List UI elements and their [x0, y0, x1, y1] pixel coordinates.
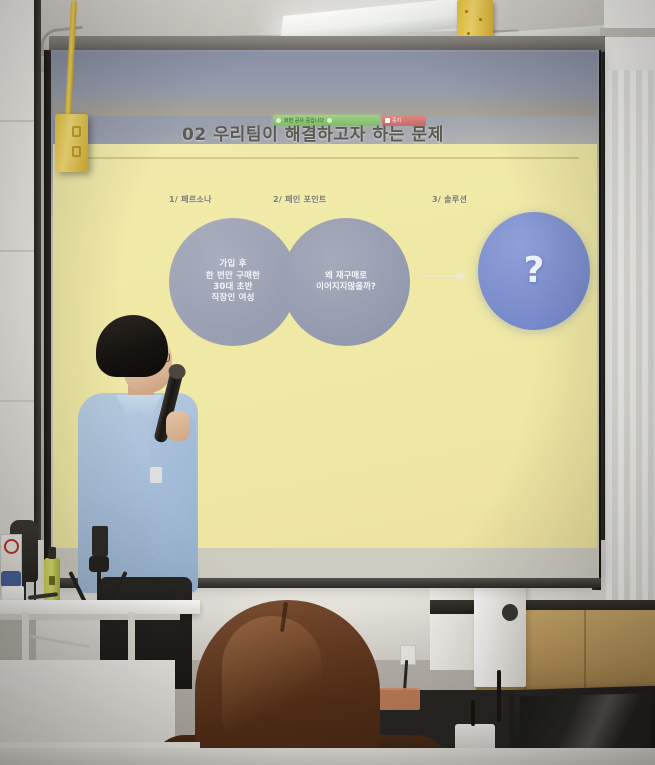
- caption-solution: 3/ 솔루션: [432, 194, 467, 205]
- straw-icon: [471, 700, 475, 726]
- phone-icon: [92, 526, 108, 556]
- projected-desktop-strip: [53, 52, 597, 116]
- bottom-ledge: [0, 748, 655, 765]
- white-table: [0, 600, 200, 614]
- solution-circle: ?: [478, 212, 590, 330]
- window-right-head: [600, 28, 655, 37]
- caption-pain-point: 2/ 페인 포인트: [273, 194, 327, 205]
- caption-persona: 1/ 페르소나: [169, 194, 212, 205]
- presentation-photo: 화면 공유 중입니다 중지 02 우리팀이 해결하고자 하는 문제 1/ 페르소…: [0, 0, 655, 765]
- presenter-hand: [166, 411, 190, 441]
- slide-title: 02 우리팀이 해결하고자 하는 문제: [41, 120, 585, 145]
- name-badge: [150, 467, 162, 483]
- persona-line-1: 가입 후: [219, 259, 246, 270]
- presenter: [78, 315, 213, 675]
- pain-point-circle: 왜 재구매로 이어지지않을까?: [282, 218, 410, 346]
- pain-point-line-2: 이어지지않을까?: [316, 282, 376, 293]
- laptop-antenna: [497, 670, 501, 722]
- window-curtain: [606, 70, 655, 630]
- persona-line-4: 직장인 여성: [211, 293, 254, 304]
- question-mark-icon: ?: [524, 253, 545, 289]
- tripod-with-phone: [70, 548, 128, 604]
- yellow-power-strip-icon: [55, 114, 88, 172]
- green-bottle: [44, 558, 60, 606]
- persona-line-2: 한 번만 구매한: [206, 271, 260, 282]
- audience-hair-highlight: [222, 616, 322, 736]
- no-entry-icon: [4, 539, 19, 554]
- persona-line-3: 30대 초반: [213, 282, 252, 293]
- flow-arrow-icon: [419, 270, 471, 282]
- slide-divider: [59, 157, 579, 159]
- pain-point-line-1: 왜 재구매로: [325, 271, 367, 282]
- presenter-hair: [96, 315, 168, 377]
